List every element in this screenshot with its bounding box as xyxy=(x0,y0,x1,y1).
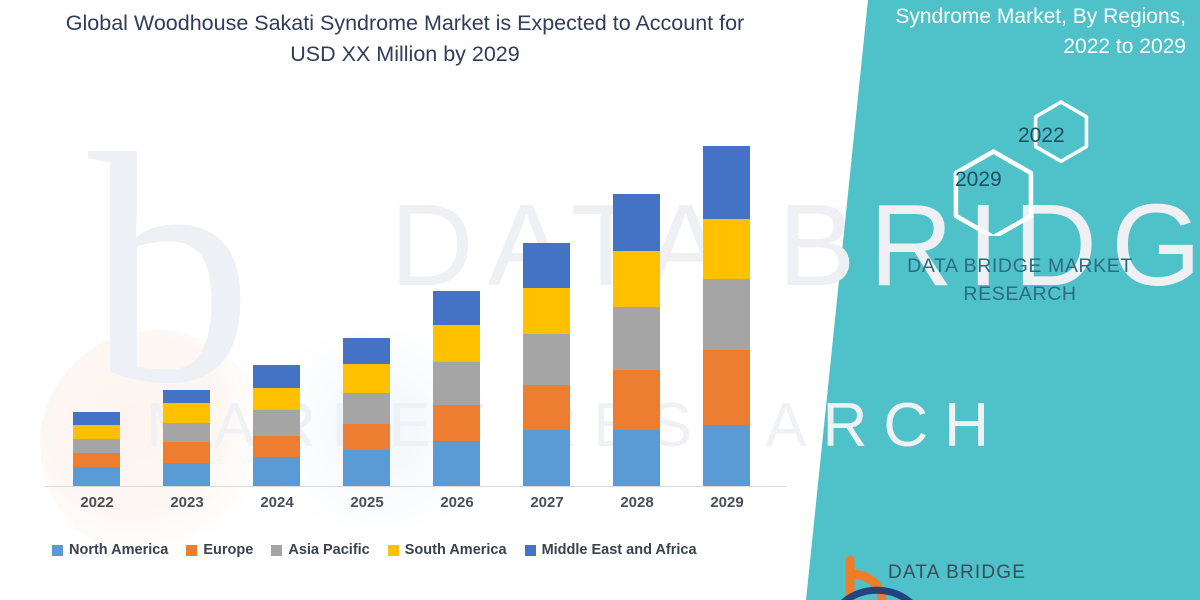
bar-segment xyxy=(343,424,390,450)
bar-column xyxy=(703,146,750,486)
bar-segment xyxy=(703,350,750,425)
bar-segment xyxy=(613,307,660,370)
bar-segment xyxy=(253,388,300,410)
bar-segment xyxy=(433,405,480,441)
legend-swatch xyxy=(52,545,63,556)
bar-segment xyxy=(163,423,210,441)
x-axis-label: 2027 xyxy=(502,494,592,511)
panel-title: Syndrome Market, By Regions, 2022 to 202… xyxy=(846,2,1186,62)
legend-item[interactable]: South America xyxy=(388,542,507,558)
bar-segment xyxy=(73,467,120,486)
bar-column xyxy=(163,390,210,486)
hexagon-badges xyxy=(925,96,1115,236)
legend-swatch xyxy=(186,545,197,556)
bar-segment xyxy=(523,334,570,385)
bar-segment xyxy=(613,430,660,486)
bar-segment xyxy=(73,425,120,439)
bar-column xyxy=(613,194,660,486)
chart-legend: North AmericaEuropeAsia PacificSouth Ame… xyxy=(52,538,782,562)
bar-column xyxy=(343,338,390,486)
x-axis-label: 2028 xyxy=(592,494,682,511)
legend-item[interactable]: North America xyxy=(52,542,168,558)
bar-segment xyxy=(343,450,390,486)
bar-column xyxy=(73,412,120,486)
bar-segment xyxy=(703,279,750,350)
bar-segment xyxy=(253,410,300,436)
x-axis-line xyxy=(44,486,786,487)
stacked-bar-chart: 20222023202420252026202720282029 xyxy=(0,0,800,600)
bar-segment xyxy=(343,338,390,364)
hexagon-label-2029: 2029 xyxy=(955,168,1002,192)
bar-segment xyxy=(703,425,750,486)
legend-swatch xyxy=(388,545,399,556)
x-axis-label: 2029 xyxy=(682,494,772,511)
bar-segment xyxy=(613,194,660,251)
bar-segment xyxy=(73,453,120,467)
legend-label: Asia Pacific xyxy=(288,542,369,558)
bar-segment xyxy=(703,146,750,218)
legend-label: North America xyxy=(69,542,168,558)
bar-segment xyxy=(343,393,390,424)
legend-label: South America xyxy=(405,542,507,558)
bar-segment xyxy=(433,291,480,325)
bar-column xyxy=(433,291,480,486)
legend-label: Middle East and Africa xyxy=(542,542,697,558)
bar-segment xyxy=(523,430,570,486)
legend-swatch xyxy=(271,545,282,556)
bar-segment xyxy=(73,439,120,453)
bar-segment xyxy=(163,463,210,486)
bar-segment xyxy=(163,442,210,463)
bar-segment xyxy=(523,385,570,430)
hexagon-label-2022: 2022 xyxy=(1018,124,1065,148)
legend-item[interactable]: Europe xyxy=(186,542,253,558)
legend-item[interactable]: Middle East and Africa xyxy=(525,542,697,558)
bar-segment xyxy=(433,441,480,486)
x-axis-label: 2022 xyxy=(52,494,142,511)
bar-segment xyxy=(523,288,570,333)
bar-column xyxy=(523,243,570,486)
bar-segment xyxy=(253,457,300,486)
brand-name: DATA BRIDGE MARKET RESEARCH xyxy=(860,252,1180,308)
bar-segment xyxy=(613,251,660,308)
legend-item[interactable]: Asia Pacific xyxy=(271,542,369,558)
bar-segment xyxy=(253,436,300,457)
x-axis-label: 2025 xyxy=(322,494,412,511)
infographic-canvas: b DATA BRIDGE MARKET RESEARCH Global Woo… xyxy=(0,0,1200,600)
bar-segment xyxy=(73,412,120,426)
bar-segment xyxy=(433,325,480,362)
brand-line-2: RESEARCH xyxy=(860,280,1180,308)
hexagon-2029-shape xyxy=(956,152,1031,236)
bar-column xyxy=(253,365,300,486)
plot-area xyxy=(52,100,772,486)
x-axis-tick-labels: 20222023202420252026202720282029 xyxy=(52,494,772,520)
bar-segment xyxy=(433,362,480,405)
bar-segment xyxy=(163,390,210,404)
brand-line-1: DATA BRIDGE MARKET xyxy=(860,252,1180,280)
bar-segment xyxy=(253,365,300,387)
bar-segment xyxy=(613,370,660,430)
legend-label: Europe xyxy=(203,542,253,558)
bar-segment xyxy=(343,364,390,393)
bar-segment xyxy=(523,243,570,288)
x-axis-label: 2024 xyxy=(232,494,322,511)
bar-segment xyxy=(703,219,750,279)
x-axis-label: 2023 xyxy=(142,494,232,511)
company-logo-text: DATA BRIDGE xyxy=(888,562,1026,584)
bar-segment xyxy=(163,403,210,423)
legend-swatch xyxy=(525,545,536,556)
x-axis-label: 2026 xyxy=(412,494,502,511)
